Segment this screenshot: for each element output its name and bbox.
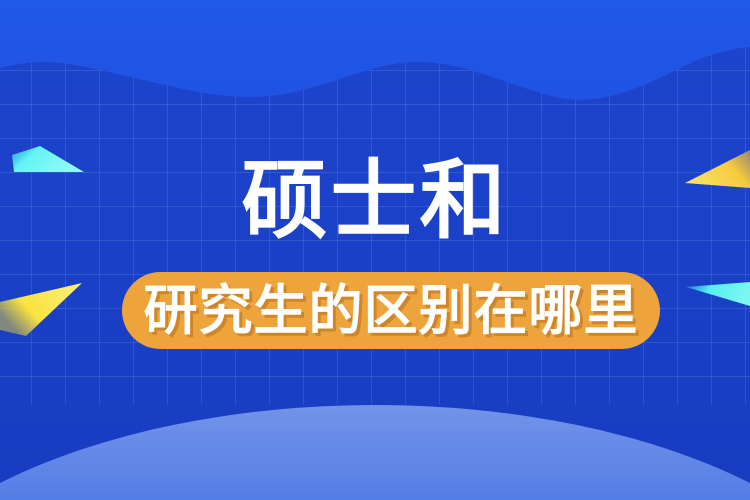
subtitle-banner-text: 研究生的区别在哪里 [144,282,639,340]
yellow-triangle-mid-left-icon [0,283,82,336]
subtitle-banner: 研究生的区别在哪里 [122,272,660,349]
poster-canvas: 硕士和 研究生的区别在哪里 [0,0,750,500]
bottom-ellipse-decoration [0,405,750,500]
page-title: 硕士和 [242,155,509,247]
headline-block: 硕士和 [0,155,750,247]
cyan-triangle-mid-right-icon [686,282,750,306]
